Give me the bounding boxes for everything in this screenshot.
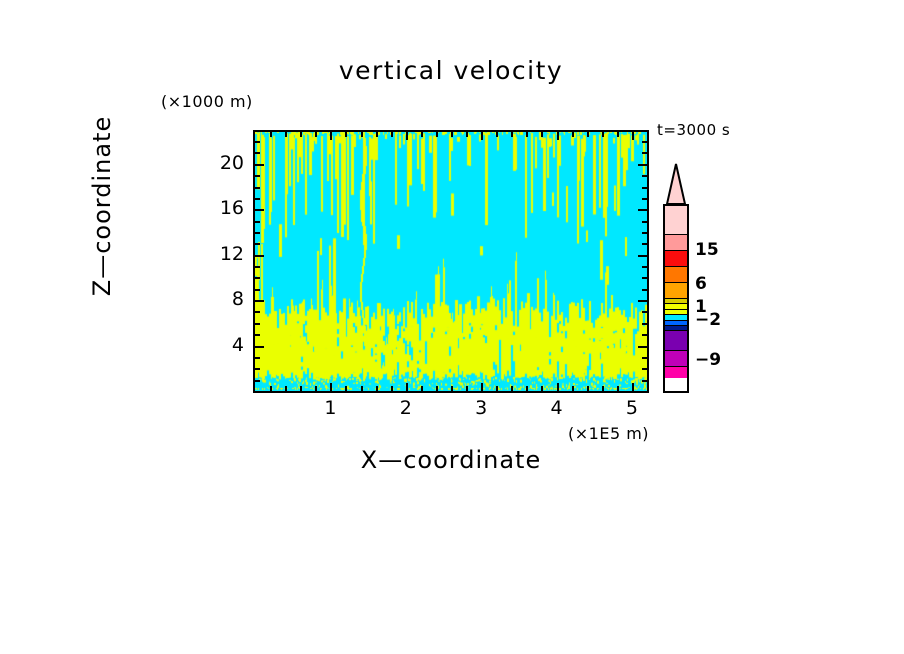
x-axis-tick-minor-top: [270, 132, 272, 137]
x-axis-tick-major: [330, 383, 332, 391]
x-axis-tick-minor-top: [315, 132, 317, 137]
contour-plot-area: [253, 130, 649, 393]
colorbar-band: [665, 350, 687, 366]
y-axis-unit-label: (×1000 m): [161, 92, 253, 111]
y-axis-tick-label: 8: [208, 288, 244, 310]
y-axis-tick-minor: [255, 289, 260, 291]
x-axis-tick-minor: [587, 386, 589, 391]
y-axis-tick-minor: [255, 243, 260, 245]
x-axis-tick-label: 5: [617, 397, 647, 419]
x-axis-tick-minor-top: [496, 132, 498, 137]
x-axis-tick-minor-top: [376, 132, 378, 137]
x-axis-tick-minor: [421, 386, 423, 391]
x-axis-tick-major-top: [330, 132, 332, 140]
y-axis-tick-label: 12: [208, 243, 244, 265]
y-axis-tick-minor-right: [642, 266, 647, 268]
y-axis-tick-minor: [255, 175, 260, 177]
x-axis-tick-minor: [270, 386, 272, 391]
colorbar: [663, 163, 689, 393]
x-axis-tick-minor: [572, 386, 574, 391]
y-axis-tick-minor-right: [642, 175, 647, 177]
x-axis-tick-minor: [376, 386, 378, 391]
y-axis-tick-minor: [255, 380, 260, 382]
x-axis-tick-minor-top: [300, 132, 302, 137]
x-axis-tick-minor-top: [391, 132, 393, 137]
x-axis-tick-major: [481, 383, 483, 391]
x-axis-tick-minor: [496, 386, 498, 391]
x-axis-tick-minor: [526, 386, 528, 391]
x-axis-tick-minor: [602, 386, 604, 391]
x-axis-tick-minor: [451, 386, 453, 391]
x-axis-tick-minor-top: [451, 132, 453, 137]
colorbar-band: [665, 366, 687, 378]
x-axis-title: X—coordinate: [253, 446, 649, 474]
colorbar-tick-label: 15: [695, 240, 719, 260]
y-axis-tick-minor-right: [642, 368, 647, 370]
x-axis-tick-minor-top: [526, 132, 528, 137]
x-axis-tick-major-top: [406, 132, 408, 140]
x-axis-tick-minor-top: [602, 132, 604, 137]
y-axis-tick-major-right: [638, 300, 647, 302]
y-axis-tick-major: [255, 164, 264, 166]
x-axis-tick-minor: [617, 386, 619, 391]
time-annotation: t=3000 s: [657, 121, 730, 139]
x-axis-tick-label: 3: [466, 397, 496, 419]
x-axis-tick-label: 1: [315, 397, 345, 419]
x-axis-tick-minor-top: [541, 132, 543, 137]
x-axis-unit-label: (×1E5 m): [568, 424, 649, 443]
y-axis-tick-minor: [255, 232, 260, 234]
y-axis-tick-minor-right: [642, 334, 647, 336]
y-axis-tick-minor: [255, 198, 260, 200]
x-axis-tick-major-top: [557, 132, 559, 140]
x-axis-tick-major: [557, 383, 559, 391]
x-axis-tick-major-top: [632, 132, 634, 140]
y-axis-tick-minor-right: [642, 141, 647, 143]
colorbar-bands: [663, 204, 689, 393]
y-axis-tick-minor: [255, 187, 260, 189]
x-axis-tick-major-top: [481, 132, 483, 140]
colorbar-band: [665, 234, 687, 250]
x-axis-tick-minor-top: [572, 132, 574, 137]
y-axis-tick-minor-right: [642, 380, 647, 382]
y-axis-tick-minor-right: [642, 357, 647, 359]
y-axis-tick-label: 20: [208, 152, 244, 174]
x-axis-tick-major: [406, 383, 408, 391]
y-axis-tick-minor: [255, 357, 260, 359]
x-axis-tick-minor-top: [361, 132, 363, 137]
x-axis-tick-minor: [361, 386, 363, 391]
y-axis-tick-major: [255, 209, 264, 211]
y-axis-tick-label: 16: [208, 197, 244, 219]
x-axis-tick-minor: [345, 386, 347, 391]
y-axis-tick-minor: [255, 152, 260, 154]
x-axis-tick-minor-top: [421, 132, 423, 137]
vertical-velocity-field: [255, 132, 647, 391]
x-axis-tick-label: 4: [542, 397, 572, 419]
y-axis-tick-major: [255, 346, 264, 348]
colorbar-arrow-icon: [663, 163, 689, 205]
x-axis-tick-minor: [391, 386, 393, 391]
x-axis-tick-minor-top: [345, 132, 347, 137]
y-axis-tick-major: [255, 255, 264, 257]
x-axis-tick-minor-top: [436, 132, 438, 137]
x-axis-tick-minor: [541, 386, 543, 391]
y-axis-tick-major-right: [638, 209, 647, 211]
x-axis-tick-minor: [511, 386, 513, 391]
colorbar-band: [665, 330, 687, 350]
x-axis-tick-minor: [466, 386, 468, 391]
colorbar-band: [665, 206, 687, 234]
y-axis-tick-minor-right: [642, 198, 647, 200]
y-axis-tick-minor-right: [642, 221, 647, 223]
x-axis-tick-minor-top: [587, 132, 589, 137]
x-axis-tick-minor-top: [285, 132, 287, 137]
x-axis-tick-minor: [436, 386, 438, 391]
y-axis-tick-major: [255, 300, 264, 302]
x-axis-tick-minor: [285, 386, 287, 391]
y-axis-tick-label: 4: [208, 334, 244, 356]
colorbar-band: [665, 266, 687, 282]
x-axis-tick-minor-top: [511, 132, 513, 137]
x-axis-tick-major: [632, 383, 634, 391]
x-axis-tick-minor-top: [466, 132, 468, 137]
y-axis-tick-minor: [255, 266, 260, 268]
y-axis-tick-minor-right: [642, 311, 647, 313]
y-axis-tick-major-right: [638, 255, 647, 257]
x-axis-tick-label: 2: [391, 397, 421, 419]
colorbar-band: [665, 250, 687, 266]
colorbar-band: [665, 282, 687, 298]
y-axis-tick-minor: [255, 334, 260, 336]
page-title-text: vertical velocity: [339, 56, 563, 85]
colorbar-tick-label: 6: [695, 274, 707, 294]
y-axis-tick-major-right: [638, 164, 647, 166]
page-title: vertical velocity: [0, 56, 904, 85]
y-axis-tick-minor-right: [642, 277, 647, 279]
y-axis-tick-minor: [255, 277, 260, 279]
y-axis-tick-minor-right: [642, 289, 647, 291]
y-axis-tick-minor: [255, 311, 260, 313]
y-axis-tick-minor-right: [642, 187, 647, 189]
y-axis-tick-minor-right: [642, 232, 647, 234]
y-axis-tick-minor: [255, 323, 260, 325]
y-axis-tick-major-right: [638, 346, 647, 348]
y-axis-tick-minor: [255, 368, 260, 370]
y-axis-tick-minor-right: [642, 152, 647, 154]
x-axis-tick-minor: [300, 386, 302, 391]
y-axis-tick-minor-right: [642, 243, 647, 245]
x-axis-tick-minor-top: [617, 132, 619, 137]
colorbar-tick-label: −2: [695, 310, 721, 330]
y-axis-tick-minor: [255, 221, 260, 223]
colorbar-tick-label: −9: [695, 350, 721, 370]
y-axis-tick-minor: [255, 141, 260, 143]
y-axis-title: Z—coordinate: [88, 86, 116, 326]
y-axis-tick-minor-right: [642, 323, 647, 325]
x-axis-tick-minor: [315, 386, 317, 391]
